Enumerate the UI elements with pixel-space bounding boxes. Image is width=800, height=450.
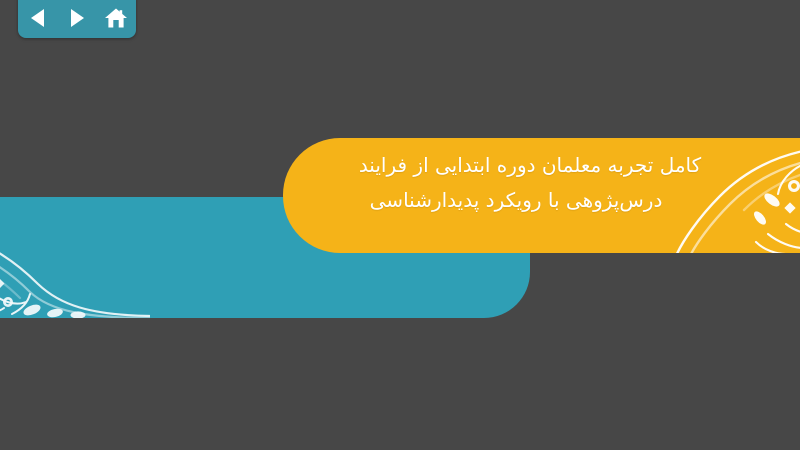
presentation-slide: کامل تجربه معلمان دوره ابتدایی از فرایند…: [0, 0, 800, 450]
back-triangle-icon: [29, 8, 47, 28]
title-line-1: کامل تجربه معلمان دوره ابتدایی از فرایند: [300, 148, 760, 183]
arabesque-corner-ornament: [0, 210, 150, 318]
page-title: کامل تجربه معلمان دوره ابتدایی از فرایند…: [300, 148, 760, 218]
title-line-2: درس‌پژوهی با رویکرد پدیدارشناسی: [300, 183, 732, 218]
forward-triangle-icon: [68, 8, 86, 28]
slide-navigation-toolbar: [18, 0, 136, 38]
home-icon: [104, 7, 128, 29]
next-slide-button[interactable]: [62, 5, 92, 31]
home-button[interactable]: [101, 5, 131, 31]
previous-slide-button[interactable]: [23, 5, 53, 31]
